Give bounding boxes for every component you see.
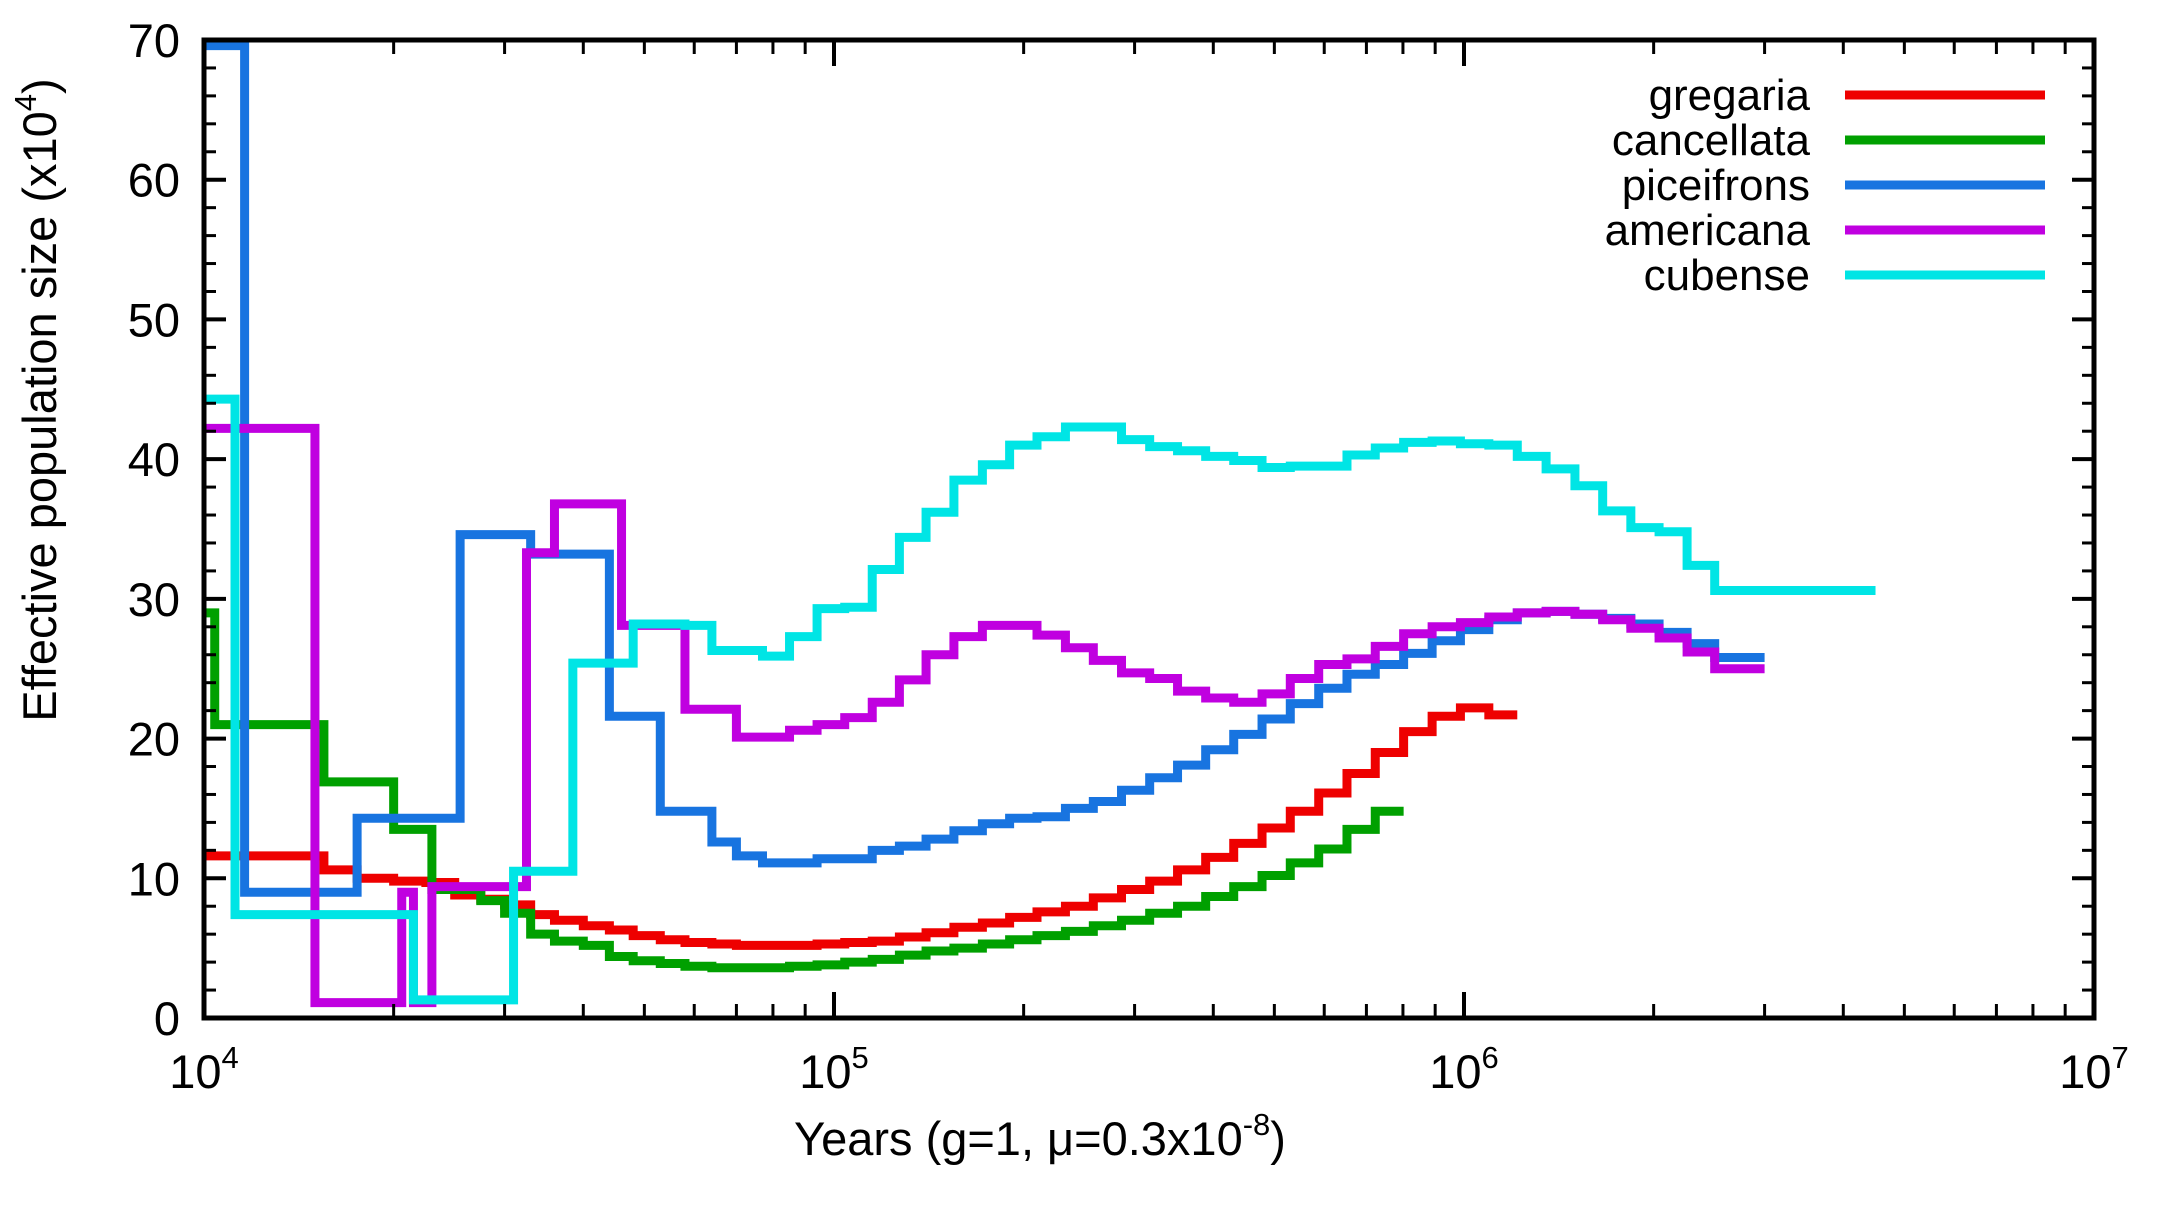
y-tick-label: 70 xyxy=(128,14,180,67)
legend-label-gregaria: gregaria xyxy=(1649,71,1811,120)
y-tick-label: 50 xyxy=(128,293,180,346)
y-tick-label: 60 xyxy=(128,154,180,207)
x-axis-title: Years (g=1, μ=0.3x10-8) xyxy=(794,1107,1286,1165)
y-tick-label: 40 xyxy=(128,433,180,486)
legend-label-cubense: cubense xyxy=(1644,251,1810,300)
legend-label-americana: americana xyxy=(1605,206,1811,255)
legend-label-piceifrons: piceifrons xyxy=(1622,161,1810,210)
y-tick-label: 0 xyxy=(154,992,180,1045)
legend-label-cancellata: cancellata xyxy=(1612,116,1811,165)
chart-svg: 010203040506070104105106107 gregariacanc… xyxy=(0,0,2175,1215)
y-tick-label: 20 xyxy=(128,713,180,766)
y-tick-label: 10 xyxy=(128,852,180,905)
psmc-population-size-chart: 010203040506070104105106107 gregariacanc… xyxy=(0,0,2175,1215)
y-axis-title: Effective population size (x104) xyxy=(8,78,66,721)
y-tick-label: 30 xyxy=(128,573,180,626)
